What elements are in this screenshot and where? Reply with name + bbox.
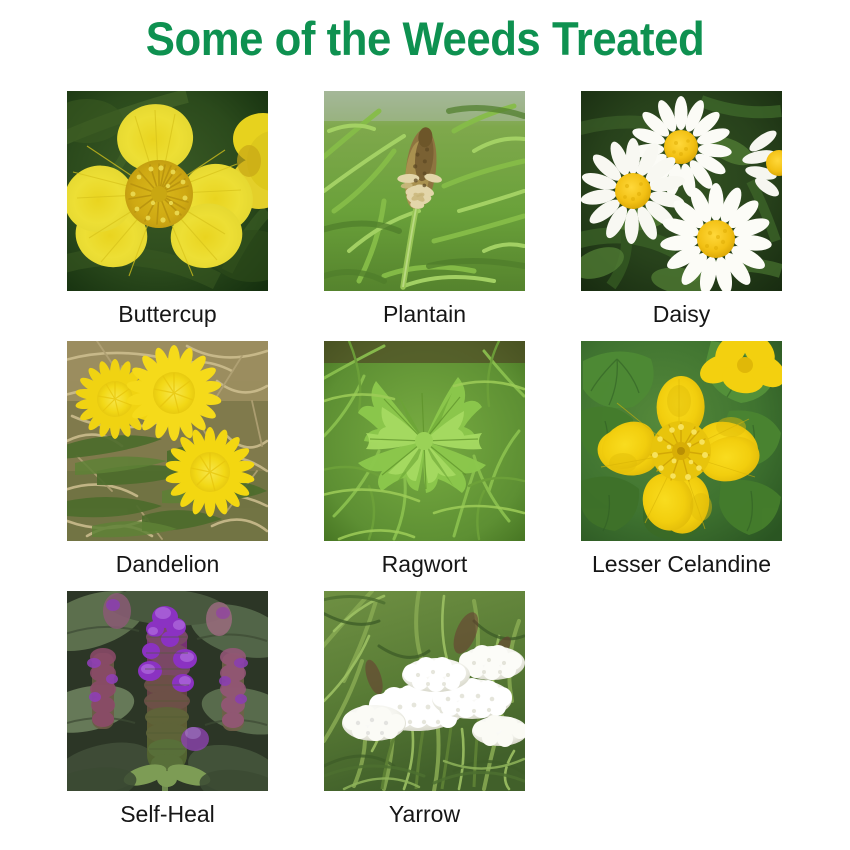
plantain-photo[interactable] <box>324 91 525 291</box>
yarrow-photo[interactable] <box>324 591 525 791</box>
gallery-row: Dandelion <box>67 341 783 578</box>
weed-card-self-heal[interactable]: Self-Heal <box>67 591 268 828</box>
weed-card-daisy[interactable]: Daisy <box>581 91 782 328</box>
self-heal-photo[interactable] <box>67 591 268 791</box>
weed-card-lesser-celandine[interactable]: Lesser Celandine <box>581 341 782 578</box>
weeds-gallery-grid: Buttercup <box>67 91 783 836</box>
ragwort-photo[interactable] <box>324 341 525 541</box>
page-title: Some of the Weeds Treated <box>30 14 821 63</box>
weed-card-plantain[interactable]: Plantain <box>324 91 525 328</box>
weeds-treated-poster: Some of the Weeds Treated <box>0 0 850 850</box>
weed-label: Lesser Celandine <box>567 550 797 578</box>
weed-label: Dandelion <box>53 550 283 578</box>
weed-label: Ragwort <box>310 550 540 578</box>
weed-label: Daisy <box>567 300 797 328</box>
weed-card-dandelion[interactable]: Dandelion <box>67 341 268 578</box>
lesser-celandine-photo[interactable] <box>581 341 782 541</box>
weed-card-buttercup[interactable]: Buttercup <box>67 91 268 328</box>
buttercup-photo[interactable] <box>67 91 268 291</box>
weed-card-yarrow[interactable]: Yarrow <box>324 591 525 828</box>
gallery-row: Buttercup <box>67 91 783 328</box>
weed-label: Plantain <box>310 300 540 328</box>
weed-label: Yarrow <box>310 800 540 828</box>
daisy-photo[interactable] <box>581 91 782 291</box>
gallery-row: Self-Heal <box>67 591 783 828</box>
dandelion-photo[interactable] <box>67 341 268 541</box>
weed-card-ragwort[interactable]: Ragwort <box>324 341 525 578</box>
weed-label: Buttercup <box>53 300 283 328</box>
weed-label: Self-Heal <box>53 800 283 828</box>
